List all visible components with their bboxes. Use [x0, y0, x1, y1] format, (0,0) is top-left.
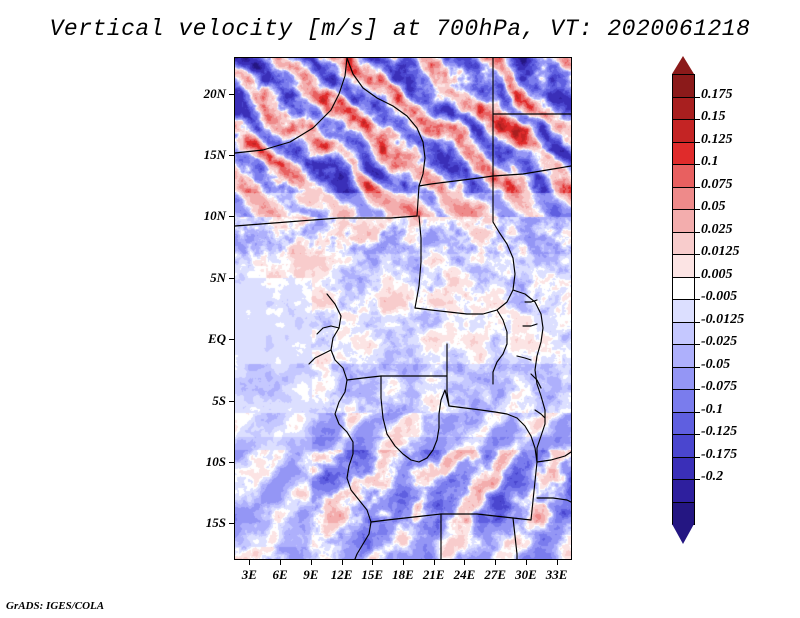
y-axis-tick: [229, 339, 234, 340]
x-axis-label: 33E: [541, 567, 573, 583]
colorbar-tick-label: 0.175: [701, 87, 733, 103]
x-axis-label: 18E: [387, 567, 419, 583]
x-axis-label: 15E: [356, 567, 388, 583]
country-borders-overlay: [235, 58, 571, 559]
y-axis-tick: [229, 462, 234, 463]
colorbar-tick: [695, 344, 700, 345]
colorbar-tick-label: -0.175: [701, 447, 737, 463]
x-axis-label: 27E: [479, 567, 511, 583]
x-axis-tick: [372, 560, 373, 565]
colorbar-tick-label: -0.1: [701, 402, 723, 418]
colorbar-tick: [695, 254, 700, 255]
y-axis-label: 15S: [182, 515, 226, 531]
colorbar-tick-label: 0.075: [701, 177, 733, 193]
colorbar-tick-label: -0.2: [701, 469, 723, 485]
y-axis-tick: [229, 94, 234, 95]
y-axis-tick: [229, 155, 234, 156]
x-axis-label: 30E: [510, 567, 542, 583]
y-axis-label: EQ: [182, 331, 226, 347]
page-title: Vertical velocity [m/s] at 700hPa, VT: 2…: [0, 16, 800, 42]
colorbar-swatch: [672, 277, 695, 301]
colorbar-tick-label: -0.05: [701, 357, 730, 373]
map-plot-area: [234, 57, 572, 560]
y-axis-label: 10N: [182, 208, 226, 224]
colorbar-swatch: [672, 209, 695, 233]
y-axis-label: 5S: [182, 393, 226, 409]
x-axis-label: 21E: [418, 567, 450, 583]
colorbar-swatch: [672, 457, 695, 481]
colorbar-tick-label: 0.125: [701, 132, 733, 148]
colorbar-swatch: [672, 97, 695, 121]
colorbar-tick: [695, 322, 700, 323]
colorbar-tick: [695, 119, 700, 120]
x-axis-label: 12E: [326, 567, 358, 583]
colorbar-tick: [695, 187, 700, 188]
y-axis-tick: [229, 401, 234, 402]
x-axis-tick: [557, 560, 558, 565]
colorbar-tick-label: 0.005: [701, 267, 733, 283]
colorbar-swatch: [672, 502, 695, 526]
colorbar-tick: [695, 142, 700, 143]
colorbar-swatch: [672, 322, 695, 346]
x-axis-tick: [526, 560, 527, 565]
colorbar-tick: [695, 164, 700, 165]
x-axis-label: 24E: [448, 567, 480, 583]
colorbar-tick: [695, 412, 700, 413]
colorbar-tick-label: -0.0125: [701, 312, 744, 328]
colorbar-swatch: [672, 74, 695, 98]
colorbar-tick-label: 0.15: [701, 109, 726, 125]
credit-footer: GrADS: IGES/COLA: [6, 600, 104, 612]
x-axis-tick: [434, 560, 435, 565]
colorbar-swatch: [672, 232, 695, 256]
colorbar-max-arrow: [672, 56, 694, 74]
x-axis-tick: [464, 560, 465, 565]
colorbar-tick: [695, 299, 700, 300]
colorbar-swatch: [672, 164, 695, 188]
y-axis-label: 10S: [182, 454, 226, 470]
x-axis-tick: [342, 560, 343, 565]
colorbar-tick: [695, 209, 700, 210]
colorbar-tick-label: 0.1: [701, 154, 719, 170]
colorbar: [672, 74, 695, 524]
colorbar-swatch: [672, 254, 695, 278]
colorbar-tick: [695, 457, 700, 458]
colorbar-swatch: [672, 479, 695, 503]
colorbar-tick-label: 0.0125: [701, 244, 740, 260]
colorbar-tick: [695, 389, 700, 390]
x-axis-tick: [495, 560, 496, 565]
x-axis-tick: [280, 560, 281, 565]
x-axis-label: 6E: [264, 567, 296, 583]
x-axis-tick: [311, 560, 312, 565]
colorbar-tick-label: 0.025: [701, 222, 733, 238]
y-axis-tick: [229, 216, 234, 217]
colorbar-tick-label: -0.025: [701, 334, 737, 350]
colorbar-swatch: [672, 412, 695, 436]
y-axis-tick: [229, 278, 234, 279]
colorbar-tick-label: -0.075: [701, 379, 737, 395]
x-axis-label: 9E: [295, 567, 327, 583]
colorbar-tick: [695, 232, 700, 233]
x-axis-tick: [249, 560, 250, 565]
colorbar-tick: [695, 97, 700, 98]
x-axis-tick: [403, 560, 404, 565]
colorbar-tick: [695, 277, 700, 278]
y-axis-label: 20N: [182, 86, 226, 102]
colorbar-swatch: [672, 344, 695, 368]
x-axis-label: 3E: [233, 567, 265, 583]
colorbar-swatch: [672, 434, 695, 458]
colorbar-swatch: [672, 299, 695, 323]
colorbar-swatch: [672, 367, 695, 391]
colorbar-tick-label: 0.05: [701, 199, 726, 215]
y-axis-tick: [229, 523, 234, 524]
colorbar-swatch: [672, 119, 695, 143]
colorbar-tick-label: -0.005: [701, 289, 737, 305]
y-axis-label: 15N: [182, 147, 226, 163]
colorbar-tick: [695, 367, 700, 368]
colorbar-tick: [695, 434, 700, 435]
y-axis-label: 5N: [182, 270, 226, 286]
colorbar-swatch: [672, 187, 695, 211]
colorbar-swatch: [672, 142, 695, 166]
colorbar-tick: [695, 479, 700, 480]
colorbar-swatch: [672, 389, 695, 413]
colorbar-min-arrow: [672, 524, 694, 544]
colorbar-tick-label: -0.125: [701, 424, 737, 440]
